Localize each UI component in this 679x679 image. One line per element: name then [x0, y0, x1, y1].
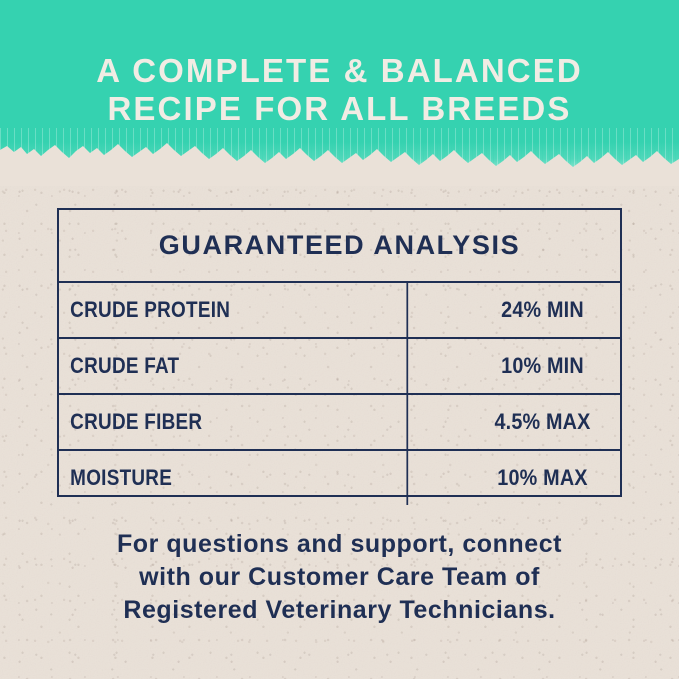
- nutrient-label: CRUDE PROTEIN: [59, 283, 408, 337]
- support-message-line2: with our Customer Care Team of: [40, 561, 639, 594]
- nutrient-value: 10% MIN: [473, 339, 613, 393]
- table-row: CRUDE FIBER 4.5% MAX: [59, 395, 620, 451]
- table-row: MOISTURE 10% MAX: [59, 451, 620, 505]
- nutrient-label: CRUDE FAT: [59, 339, 408, 393]
- nutrient-value: 24% MIN: [473, 283, 613, 337]
- nutrient-value: 4.5% MAX: [473, 395, 613, 449]
- support-message-line3: Registered Veterinary Technicians.: [40, 594, 639, 627]
- table-header: GUARANTEED ANALYSIS: [59, 210, 620, 283]
- banner-heading: A COMPLETE & BALANCED RECIPE FOR ALL BRE…: [0, 52, 679, 128]
- nutrient-value: 10% MAX: [473, 451, 613, 505]
- nutrient-label: MOISTURE: [59, 451, 408, 505]
- product-label-panel: A COMPLETE & BALANCED RECIPE FOR ALL BRE…: [0, 0, 679, 679]
- table-row: CRUDE PROTEIN 24% MIN: [59, 283, 620, 339]
- nutrient-label: CRUDE FIBER: [59, 395, 408, 449]
- support-message-line1: For questions and support, connect: [40, 528, 639, 561]
- teal-banner: A COMPLETE & BALANCED RECIPE FOR ALL BRE…: [0, 0, 679, 186]
- table-title: GUARANTEED ANALYSIS: [159, 230, 520, 261]
- table-row: CRUDE FAT 10% MIN: [59, 339, 620, 395]
- banner-heading-line2: RECIPE FOR ALL BREEDS: [0, 90, 679, 128]
- support-message: For questions and support, connect with …: [40, 528, 639, 627]
- banner-heading-line1: A COMPLETE & BALANCED: [96, 52, 583, 89]
- guaranteed-analysis-table: GUARANTEED ANALYSIS CRUDE PROTEIN 24% MI…: [57, 208, 622, 497]
